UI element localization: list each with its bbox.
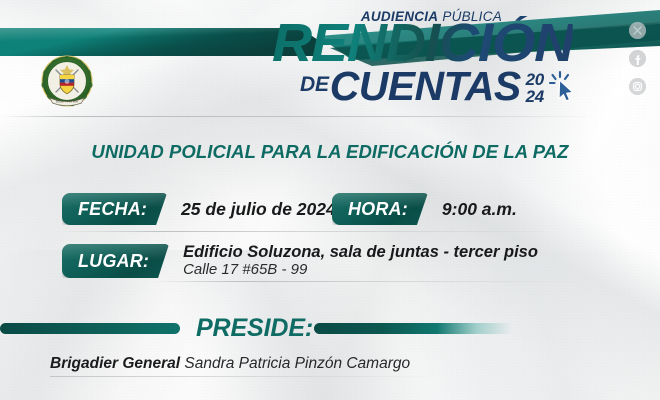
header-band: DIOS Y PATRIA AUDIENCIA PÚBLICA RENDICIÓ… bbox=[0, 0, 660, 118]
instagram-icon[interactable] bbox=[629, 78, 646, 95]
presider-rank: Brigadier General bbox=[50, 355, 180, 372]
svg-text:DIOS Y PATRIA: DIOS Y PATRIA bbox=[56, 100, 79, 104]
lugar-row-underline bbox=[150, 281, 580, 282]
preside-rule-left bbox=[0, 323, 180, 334]
fecha-row-underline bbox=[62, 231, 562, 232]
fecha-value: 25 de julio de 2024 bbox=[181, 199, 336, 220]
preside-rule-right bbox=[314, 323, 512, 334]
hora-value: 9:00 a.m. bbox=[442, 199, 517, 220]
lugar-value-block: Edificio Soluzona, sala de juntas - terc… bbox=[183, 243, 538, 279]
social-icons-group[interactable] bbox=[629, 22, 646, 95]
lugar-label-badge: LUGAR: bbox=[62, 244, 169, 278]
facebook-icon[interactable] bbox=[629, 50, 646, 67]
page-subtitle: UNIDAD POLICIAL PARA LA EDIFICACIÓN DE L… bbox=[0, 141, 660, 163]
preside-label: PRESIDE: bbox=[196, 314, 313, 343]
lugar-value-line1: Edificio Soluzona, sala de juntas - terc… bbox=[183, 243, 538, 261]
preside-band: PRESIDE: bbox=[0, 313, 660, 343]
lugar-row: LUGAR: Edificio Soluzona, sala de juntas… bbox=[62, 241, 538, 281]
presider-name: Sandra Patricia Pinzón Camargo bbox=[184, 355, 410, 372]
header-teal-swoosh bbox=[0, 0, 660, 118]
header-divider-line bbox=[0, 116, 600, 117]
lugar-value-line2: Calle 17 #65B - 99 bbox=[183, 262, 538, 279]
presider-line: Brigadier General Sandra Patricia Pinzón… bbox=[50, 355, 410, 373]
presider-underline bbox=[50, 376, 440, 377]
fecha-row: FECHA: 25 de julio de 2024 bbox=[62, 193, 336, 225]
hora-row: HORA: 9:00 a.m. bbox=[332, 193, 517, 225]
hora-label-badge: HORA: bbox=[332, 193, 428, 225]
policia-nacional-colombia-crest: DIOS Y PATRIA bbox=[36, 52, 98, 114]
x-twitter-icon[interactable] bbox=[629, 22, 646, 39]
fecha-label-badge: FECHA: bbox=[62, 193, 167, 225]
poster-canvas: DIOS Y PATRIA AUDIENCIA PÚBLICA RENDICIÓ… bbox=[0, 0, 660, 400]
